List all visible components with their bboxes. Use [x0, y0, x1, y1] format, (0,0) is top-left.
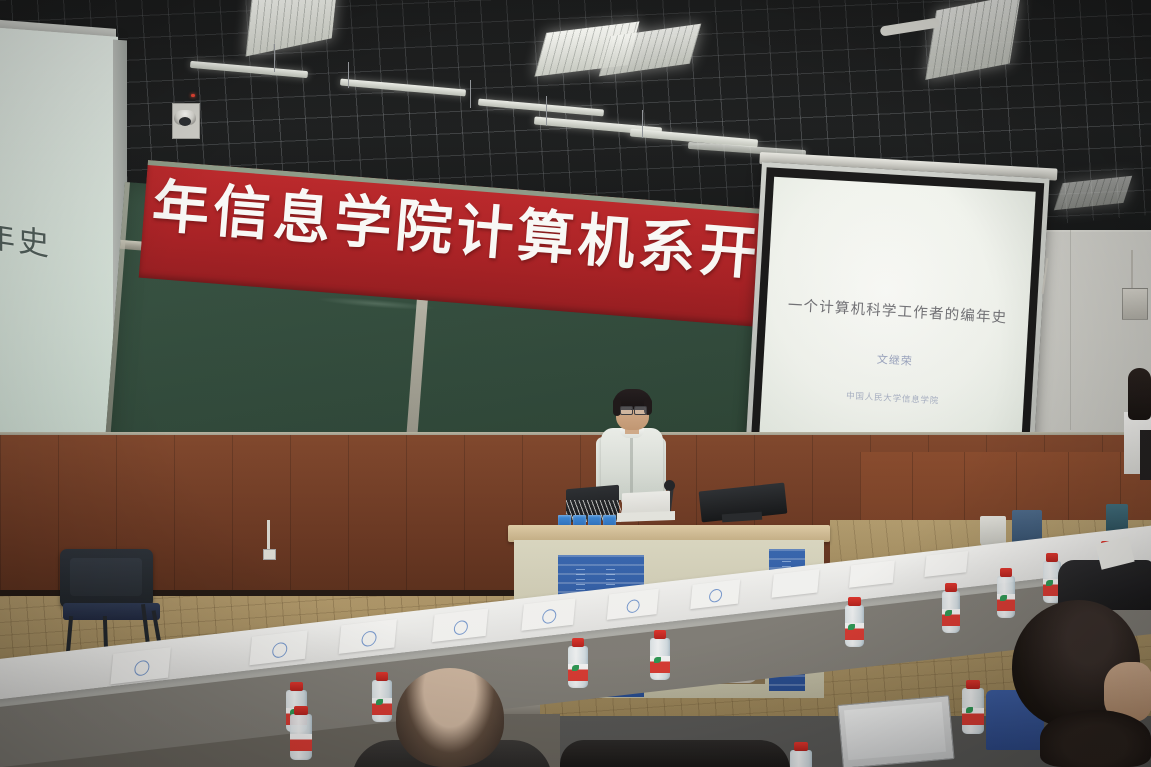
light-suspension-rod [274, 44, 275, 72]
light-suspension-rod [642, 110, 643, 138]
glasses-icon [620, 406, 633, 415]
handout-logo-icon [542, 609, 557, 625]
camera-led-indicator [191, 94, 195, 97]
glasses-bridge [631, 409, 635, 410]
bottle-cap [290, 682, 303, 691]
left-projection-screen: 年史 [0, 27, 118, 449]
water-bottle[interactable] [845, 597, 864, 644]
projection-screen: 一个计算机科学工作者的编年史 文继荣 中国人民大学信息学院 [746, 162, 1050, 463]
slide-author: 文继荣 [764, 344, 1026, 375]
bottle-leaf-icon [376, 699, 383, 705]
handout-paper[interactable] [849, 560, 895, 587]
shirt-placket [630, 434, 633, 496]
handout-paper[interactable] [249, 630, 307, 665]
bottle-cap [294, 706, 308, 715]
chair-backrest [70, 558, 142, 596]
water-bottle[interactable] [568, 638, 588, 688]
glasses-icon [634, 406, 647, 415]
bottle-cap [1000, 568, 1012, 577]
bottle-leaf-icon [966, 707, 973, 713]
wall-socket-icon [263, 549, 276, 560]
handout-logo-icon [626, 599, 640, 614]
wall-speaker-icon [1122, 288, 1148, 320]
light-suspension-rod [348, 62, 349, 88]
lecture-hall-photo: 年史 年信息学院计算机系开放日 一个计算机科学工作者的编年史 文继荣 中国人民大… [0, 0, 1151, 767]
bottle-cap [794, 742, 808, 751]
water-bottle[interactable] [962, 680, 984, 736]
slide-title: 一个计算机科学工作者的编年史 [766, 293, 1029, 329]
handout-logo-icon [709, 588, 723, 603]
light-suspension-rod [546, 96, 547, 126]
presentation-slide: 一个计算机科学工作者的编年史 文继荣 中国人民大学信息学院 [759, 177, 1035, 450]
handout-paper[interactable] [521, 598, 575, 630]
bottle-cap [848, 597, 860, 606]
audience-laptop-screen [844, 702, 946, 760]
water-bottle[interactable] [650, 630, 670, 679]
audience-head [396, 668, 504, 767]
microphone-icon [664, 480, 675, 491]
bottle-leaf-icon [654, 657, 661, 663]
handout-logo-icon [272, 642, 288, 659]
handout-paper[interactable] [690, 579, 740, 609]
light-suspension-rod [470, 80, 471, 108]
handout-paper[interactable] [772, 569, 820, 598]
standing-person-hair [1128, 368, 1151, 420]
bottle-label [290, 734, 312, 751]
water-bottle[interactable] [372, 672, 392, 722]
slide-affiliation: 中国人民大学信息学院 [762, 384, 1024, 411]
bottle-cap [945, 583, 957, 592]
water-bottle[interactable] [997, 568, 1015, 612]
bottle-cap [376, 672, 389, 681]
bottle-cap [1046, 553, 1058, 562]
bottle-body [790, 750, 812, 767]
handout-paper[interactable] [607, 589, 659, 620]
standing-person-garment [1140, 430, 1151, 480]
handout-logo-icon [453, 620, 468, 636]
bottle-cap [572, 638, 585, 647]
handout-paper[interactable] [924, 551, 968, 577]
waste-bin [980, 516, 1006, 546]
handout-paper[interactable] [110, 647, 171, 684]
left-screen-text: 年史 [0, 210, 64, 267]
camera-lens-icon [179, 117, 191, 126]
bottle-cap [654, 630, 667, 639]
handout-logo-icon [361, 630, 377, 647]
bottle-leaf-icon [572, 665, 579, 671]
audience-head [1040, 710, 1151, 767]
socket-cable [267, 520, 270, 550]
handout-paper[interactable] [339, 619, 397, 654]
audience-shoulders [560, 740, 790, 767]
handout-paper[interactable] [432, 608, 488, 642]
water-bottle[interactable] [942, 583, 960, 628]
water-bottle[interactable] [290, 706, 312, 762]
speaker-cable [1131, 250, 1133, 290]
handout-logo-icon [134, 660, 150, 677]
bottle-cap [966, 680, 980, 689]
water-bottle[interactable] [790, 742, 812, 767]
